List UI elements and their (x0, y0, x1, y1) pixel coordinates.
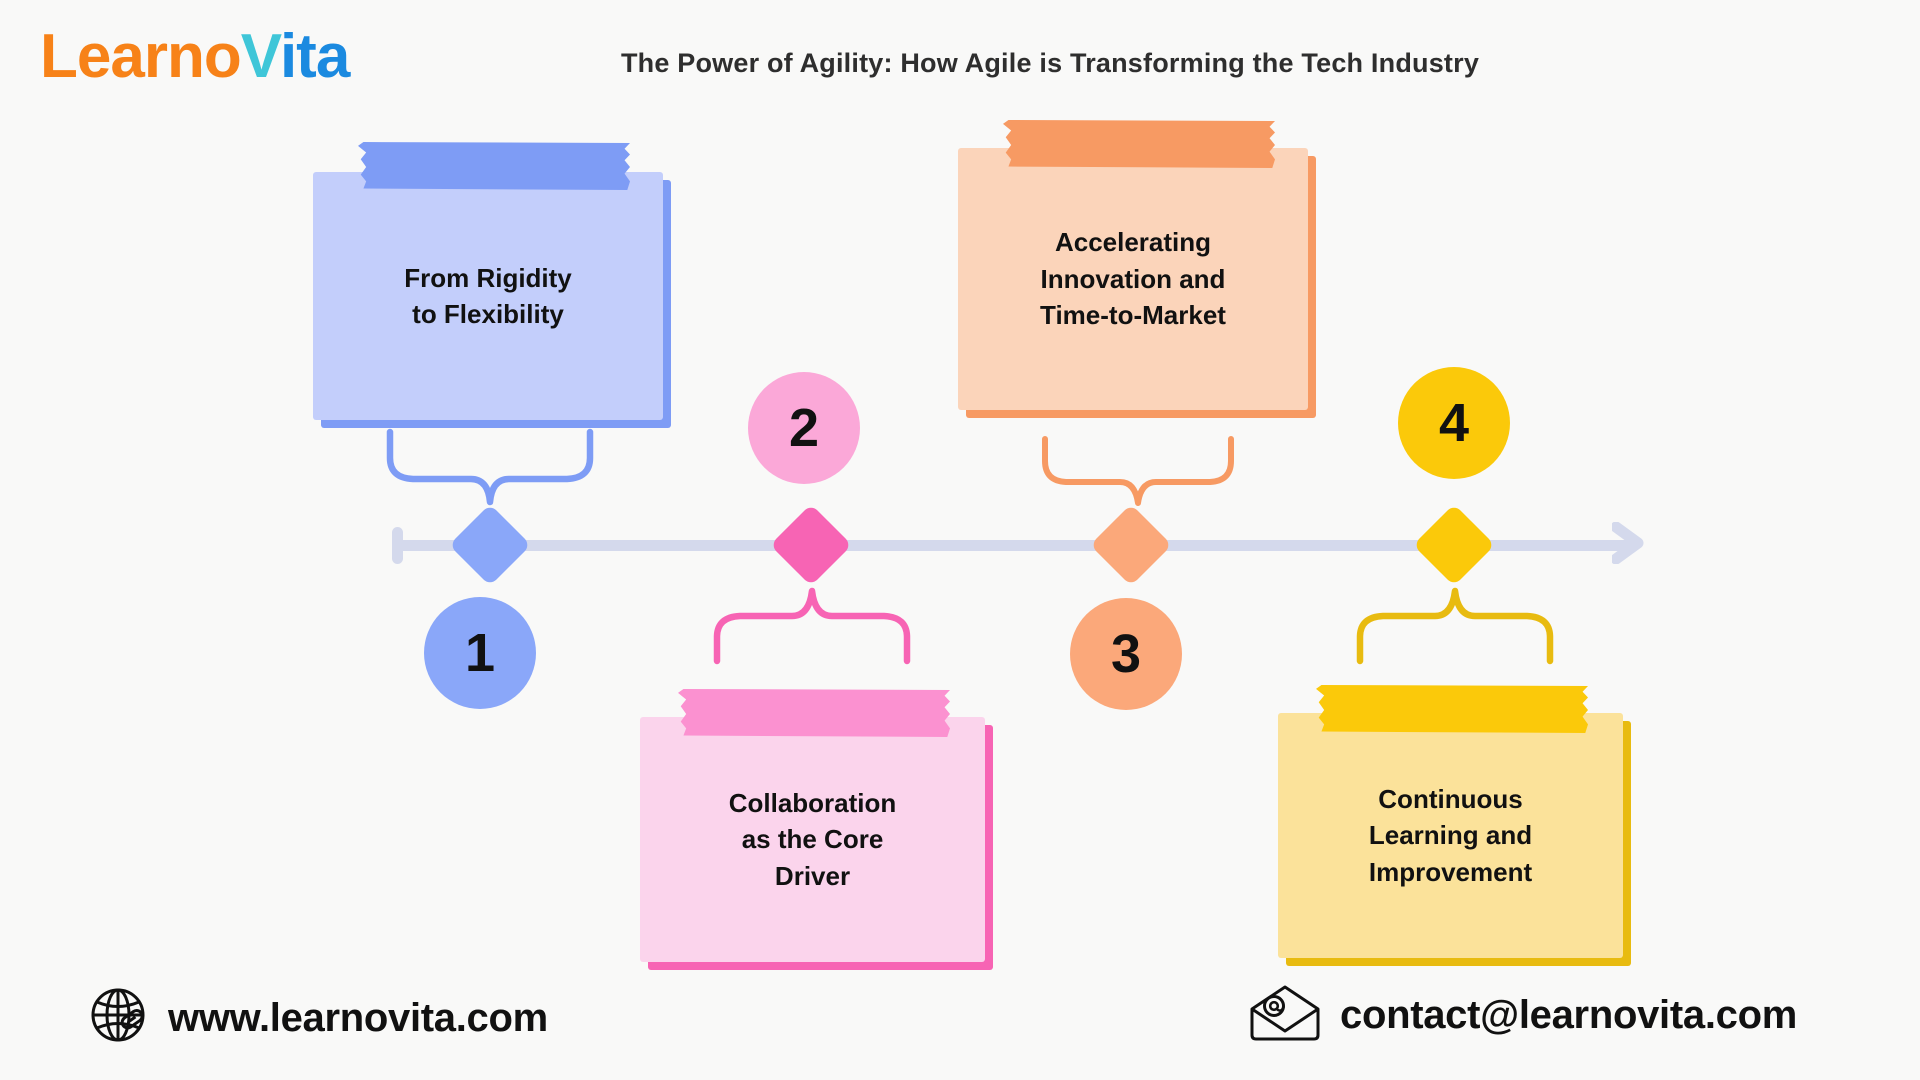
arrow-right-icon (1612, 522, 1646, 564)
card-body: Accelerating Innovation and Time-to-Mark… (958, 148, 1308, 410)
card-tape (358, 142, 630, 190)
brace-connector-2 (712, 585, 912, 670)
step-card-2[interactable]: Collaboration as the Core Driver (640, 717, 985, 962)
step-number-3[interactable]: 3 (1070, 598, 1182, 710)
logo-text-learno: Learno (40, 22, 241, 91)
envelope-at-icon (1248, 985, 1322, 1046)
timeline-start-cap (392, 527, 403, 564)
footer-email[interactable]: contact@learnovita.com (1248, 985, 1797, 1046)
step-card-4[interactable]: Continuous Learning and Improvement (1278, 713, 1623, 958)
brace-connector-4 (1355, 585, 1555, 670)
header-bar: LearnoVita The Power of Agility: How Agi… (0, 0, 1920, 120)
timeline-marker-4[interactable] (1413, 504, 1495, 586)
card-body: Continuous Learning and Improvement (1278, 713, 1623, 958)
globe-link-icon (88, 985, 150, 1052)
step-number-label: 4 (1439, 396, 1469, 450)
footer-website-text: www.learnovita.com (168, 996, 548, 1041)
card-title: Continuous Learning and Improvement (1347, 781, 1554, 890)
card-body: Collaboration as the Core Driver (640, 717, 985, 962)
page-title: The Power of Agility: How Agile is Trans… (490, 48, 1610, 79)
step-number-1[interactable]: 1 (424, 597, 536, 709)
learnovita-logo: LearnoVita (40, 26, 349, 88)
footer-website[interactable]: www.learnovita.com (88, 985, 548, 1052)
card-title: Accelerating Innovation and Time-to-Mark… (1018, 224, 1248, 333)
logo-text-ita: ita (280, 22, 349, 91)
timeline-marker-3[interactable] (1090, 504, 1172, 586)
footer-email-text: contact@learnovita.com (1340, 993, 1797, 1038)
step-number-2[interactable]: 2 (748, 372, 860, 484)
step-number-label: 1 (465, 626, 495, 680)
step-card-3[interactable]: Accelerating Innovation and Time-to-Mark… (958, 148, 1308, 410)
logo-text-v: V (241, 22, 280, 91)
card-tape (1316, 685, 1588, 733)
card-tape (678, 689, 950, 737)
card-body: From Rigidity to Flexibility (313, 172, 663, 420)
step-card-1[interactable]: From Rigidity to Flexibility (313, 172, 663, 420)
card-title: From Rigidity to Flexibility (382, 260, 594, 333)
step-number-label: 2 (789, 401, 819, 455)
brace-connector-1 (385, 428, 595, 511)
timeline-marker-1[interactable] (449, 504, 531, 586)
step-number-label: 3 (1111, 627, 1141, 681)
card-title: Collaboration as the Core Driver (707, 785, 919, 894)
card-tape (1003, 120, 1275, 168)
timeline-marker-2[interactable] (770, 504, 852, 586)
step-number-4[interactable]: 4 (1398, 367, 1510, 479)
brace-connector-3 (1040, 435, 1236, 512)
